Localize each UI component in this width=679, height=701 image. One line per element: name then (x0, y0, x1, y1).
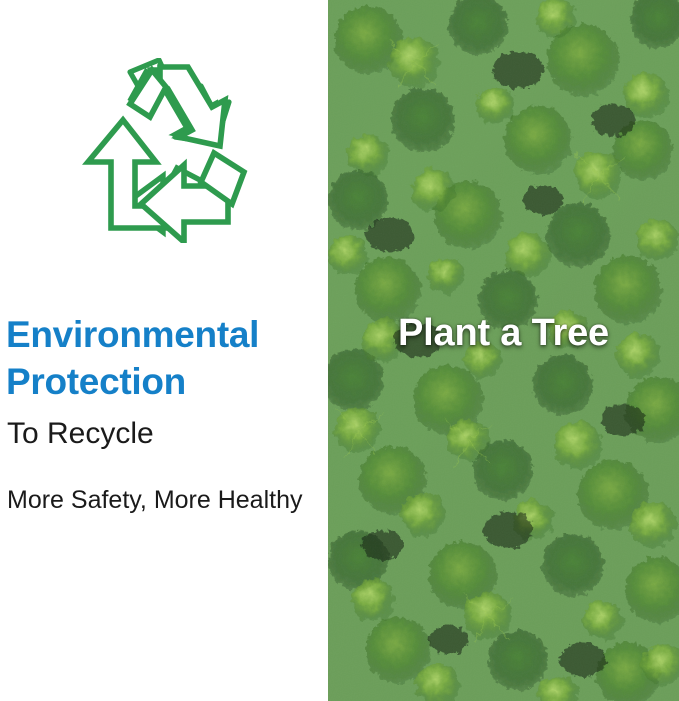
subtitle-text: To Recycle (7, 417, 154, 450)
page-title: Environmental Protection (6, 312, 322, 405)
recycle-symbol-icon (62, 58, 254, 243)
right-photo-panel: Plant a Tree (328, 0, 679, 701)
environmental-protection-banner: Environmental Protection To Recycle More… (0, 0, 679, 701)
tagline-text: More Safety, More Healthy (7, 487, 302, 515)
left-info-panel: Environmental Protection To Recycle More… (0, 0, 328, 701)
aerial-forest-canopy-photo (328, 0, 679, 701)
